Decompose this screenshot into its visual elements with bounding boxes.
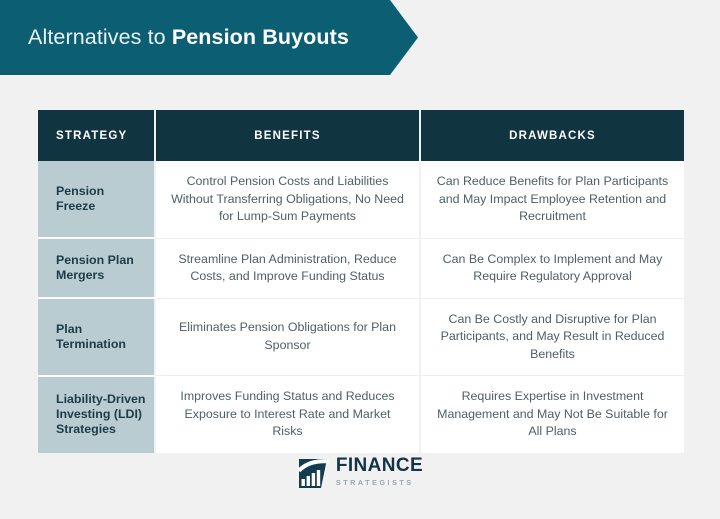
table-body: Pension Freeze Control Pension Costs and…	[38, 161, 684, 453]
header-banner: Alternatives to Pension Buyouts	[0, 0, 418, 75]
column-header-benefits: BENEFITS	[155, 110, 420, 161]
brand-logo: FINANCE STRATEGISTS	[0, 456, 720, 488]
table-row: Plan Termination Eliminates Pension Obli…	[38, 298, 684, 376]
cell-strategy: Liability-Driven Investing (LDI) Strateg…	[38, 376, 155, 453]
brand-tagline: STRATEGISTS	[336, 475, 423, 488]
cell-strategy: Pension Plan Mergers	[38, 238, 155, 298]
page-title-thin: Alternatives to	[28, 25, 172, 49]
cell-strategy: Pension Freeze	[38, 161, 155, 238]
table-header: STRATEGY BENEFITS DRAWBACKS	[38, 110, 684, 161]
column-header-strategy: STRATEGY	[38, 110, 155, 161]
cell-benefits: Eliminates Pension Obligations for Plan …	[155, 298, 420, 376]
cell-benefits: Streamline Plan Administration, Reduce C…	[155, 238, 420, 298]
brand-logo-text: FINANCE STRATEGISTS	[336, 456, 423, 488]
page-title: Alternatives to Pension Buyouts	[0, 25, 349, 51]
column-header-drawbacks: DRAWBACKS	[420, 110, 684, 161]
cell-drawbacks: Can Be Complex to Implement and May Requ…	[420, 238, 684, 298]
table-row: Pension Freeze Control Pension Costs and…	[38, 161, 684, 238]
cell-drawbacks: Can Be Costly and Disruptive for Plan Pa…	[420, 298, 684, 376]
page-title-bold: Pension Buyouts	[172, 25, 349, 49]
table-row: Liability-Driven Investing (LDI) Strateg…	[38, 376, 684, 453]
cell-drawbacks: Requires Expertise in Investment Managem…	[420, 376, 684, 453]
brand-name: FINANCE	[336, 456, 423, 475]
finance-strategists-bar-chart-logo-icon	[297, 457, 329, 488]
cell-strategy: Plan Termination	[38, 298, 155, 376]
comparison-table-container: STRATEGY BENEFITS DRAWBACKS Pension Free…	[38, 110, 684, 453]
cell-benefits: Improves Funding Status and Reduces Expo…	[155, 376, 420, 453]
infographic-canvas: Alternatives to Pension Buyouts STRATEGY…	[0, 0, 720, 519]
table-row: Pension Plan Mergers Streamline Plan Adm…	[38, 238, 684, 298]
cell-drawbacks: Can Reduce Benefits for Plan Participant…	[420, 161, 684, 238]
table-header-row: STRATEGY BENEFITS DRAWBACKS	[38, 110, 684, 161]
comparison-table: STRATEGY BENEFITS DRAWBACKS Pension Free…	[38, 110, 684, 453]
cell-benefits: Control Pension Costs and Liabilities Wi…	[155, 161, 420, 238]
